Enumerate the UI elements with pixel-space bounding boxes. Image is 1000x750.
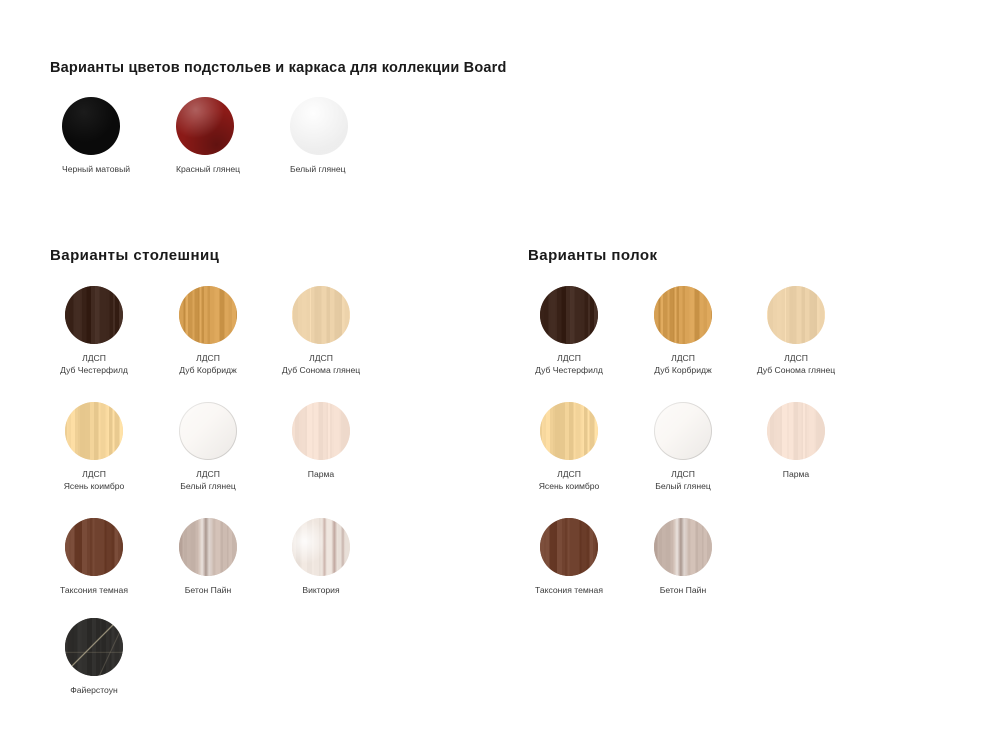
swatch-label: ЛДСП Дуб Сонома глянец [726, 353, 866, 376]
swatch-disc [767, 402, 825, 460]
swatch-label: Черный матовый [62, 164, 158, 176]
swatch-frame-0[interactable]: Черный матовый [62, 97, 158, 176]
page-title: Варианты цветов подстольев и каркаса для… [50, 60, 507, 76]
swatch-shelf-5[interactable]: Парма [726, 402, 866, 481]
swatch-tabletop-5[interactable]: Парма [251, 402, 391, 481]
swatch-disc [540, 286, 598, 344]
swatch-disc [179, 286, 237, 344]
swatch-disc [176, 97, 234, 155]
swatch-disc [540, 402, 598, 460]
swatch-frame-2[interactable]: Белый глянец [290, 97, 386, 176]
section-title-shelves: Варианты полок [528, 247, 657, 264]
swatch-disc [654, 286, 712, 344]
swatch-shelf-2[interactable]: ЛДСП Дуб Сонома глянец [726, 286, 866, 376]
swatch-label: Бетон Пайн [613, 585, 753, 597]
swatch-label: Парма [251, 469, 391, 481]
swatch-disc [290, 97, 348, 155]
swatch-disc [62, 97, 120, 155]
swatch-label: Белый глянец [290, 164, 386, 176]
swatch-label: Файерстоун [24, 685, 164, 697]
swatch-frame-1[interactable]: Красный глянец [176, 97, 272, 176]
swatch-disc [654, 402, 712, 460]
swatch-label: Парма [726, 469, 866, 481]
swatch-disc [179, 518, 237, 576]
swatch-disc [65, 286, 123, 344]
swatch-label: Виктория [251, 585, 391, 597]
swatch-label: Красный глянец [176, 164, 272, 176]
swatch-tabletop-8[interactable]: Виктория [251, 518, 391, 597]
swatch-disc [65, 518, 123, 576]
swatch-disc [540, 518, 598, 576]
swatch-disc [654, 518, 712, 576]
swatch-shelf-7[interactable]: Бетон Пайн [613, 518, 753, 597]
swatch-tabletop-2[interactable]: ЛДСП Дуб Сонома глянец [251, 286, 391, 376]
swatch-disc [65, 402, 123, 460]
swatch-disc [292, 518, 350, 576]
color-options-sheet: Варианты цветов подстольев и каркаса для… [0, 0, 1000, 750]
swatch-disc [767, 286, 825, 344]
section-title-tabletops: Варианты столешниц [50, 247, 219, 264]
swatch-tabletop-9[interactable]: Файерстоун [24, 618, 164, 697]
swatch-disc [65, 618, 123, 676]
swatch-disc [292, 286, 350, 344]
swatch-disc [179, 402, 237, 460]
swatch-disc [292, 402, 350, 460]
swatch-label: ЛДСП Дуб Сонома глянец [251, 353, 391, 376]
